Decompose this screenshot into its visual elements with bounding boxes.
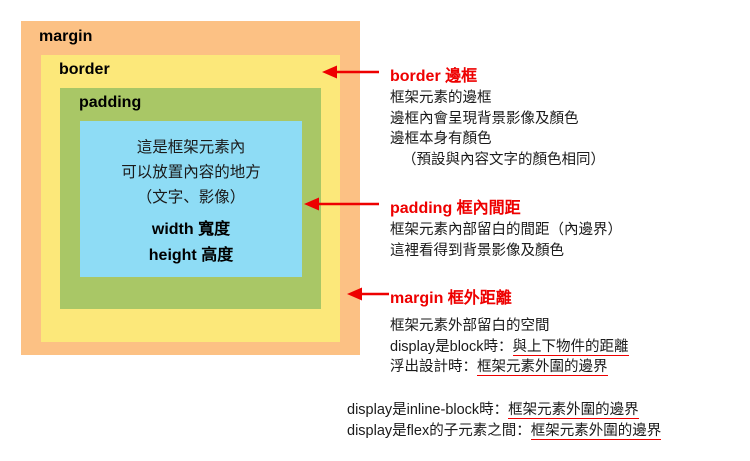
padding-annotation-title: padding 框內間距 [390,194,521,218]
margin-line-5-prefix: display是flex的子元素之間： [347,423,531,439]
border-annotation-line-1: 框架元素的邊框 [390,88,605,109]
border-annotation-line-3: 邊框本身有顏色 [390,129,605,150]
margin-line-3-underlined: 框架元素外圍的邊界 [477,359,608,376]
content-line-3: （文字、影像） [80,185,302,210]
border-box-label: border [59,61,110,79]
content-width-label: width 寬度 [80,217,302,243]
margin-annotation-line-1: 框架元素外部留白的空間 [390,316,629,337]
margin-annotation-line-3: 浮出設計時：框架元素外圍的邊界 [390,357,629,378]
margin-box-label: margin [39,28,92,46]
arrow-to-margin-icon [347,287,390,301]
margin-line-5-underlined: 框架元素外圍的邊界 [531,423,662,440]
margin-annotation-extra: display是inline-block時：框架元素外圍的邊界 display是… [347,400,661,441]
margin-annotation-body: 框架元素外部留白的空間 display是block時：與上下物件的距離 浮出設計… [390,316,629,378]
margin-annotation-line-4: display是inline-block時：框架元素外圍的邊界 [347,400,661,421]
box-model-illustration: margin border padding 這是框架元素內 可以放置內容的地方 … [0,0,750,461]
content-line-2: 可以放置內容的地方 [80,160,302,185]
padding-annotation-body: 框架元素內部留白的間距（內邊界） 這裡看得到背景影像及顏色 [390,220,622,261]
margin-line-3-prefix: 浮出設計時： [390,359,477,375]
margin-line-4-prefix: display是inline-block時： [347,402,508,418]
arrow-to-border-icon [322,65,380,79]
margin-annotation-line-5: display是flex的子元素之間：框架元素外圍的邊界 [347,421,661,442]
margin-line-2-prefix: display是block時： [390,339,513,355]
margin-annotation-title: margin 框外距離 [390,284,512,308]
content-box-text: 這是框架元素內 可以放置內容的地方 （文字、影像） width 寬度 heigh… [80,135,302,269]
border-annotation-line-4: （預設與內容文字的顏色相同） [390,150,605,171]
padding-annotation-line-1: 框架元素內部留白的間距（內邊界） [390,220,622,241]
padding-box-label: padding [79,94,141,112]
margin-line-4-underlined: 框架元素外圍的邊界 [508,402,639,419]
padding-annotation-line-2: 這裡看得到背景影像及顏色 [390,241,622,262]
content-height-label: height 高度 [80,243,302,269]
border-annotation-title: border 邊框 [390,62,477,86]
content-line-1: 這是框架元素內 [80,135,302,160]
border-annotation-body: 框架元素的邊框 邊框內會呈現背景影像及顏色 邊框本身有顏色 （預設與內容文字的顏… [390,88,605,170]
margin-annotation-line-2: display是block時：與上下物件的距離 [390,337,629,358]
border-annotation-line-2: 邊框內會呈現背景影像及顏色 [390,109,605,130]
arrow-to-padding-icon [304,197,380,211]
margin-line-2-underlined: 與上下物件的距離 [513,339,629,356]
